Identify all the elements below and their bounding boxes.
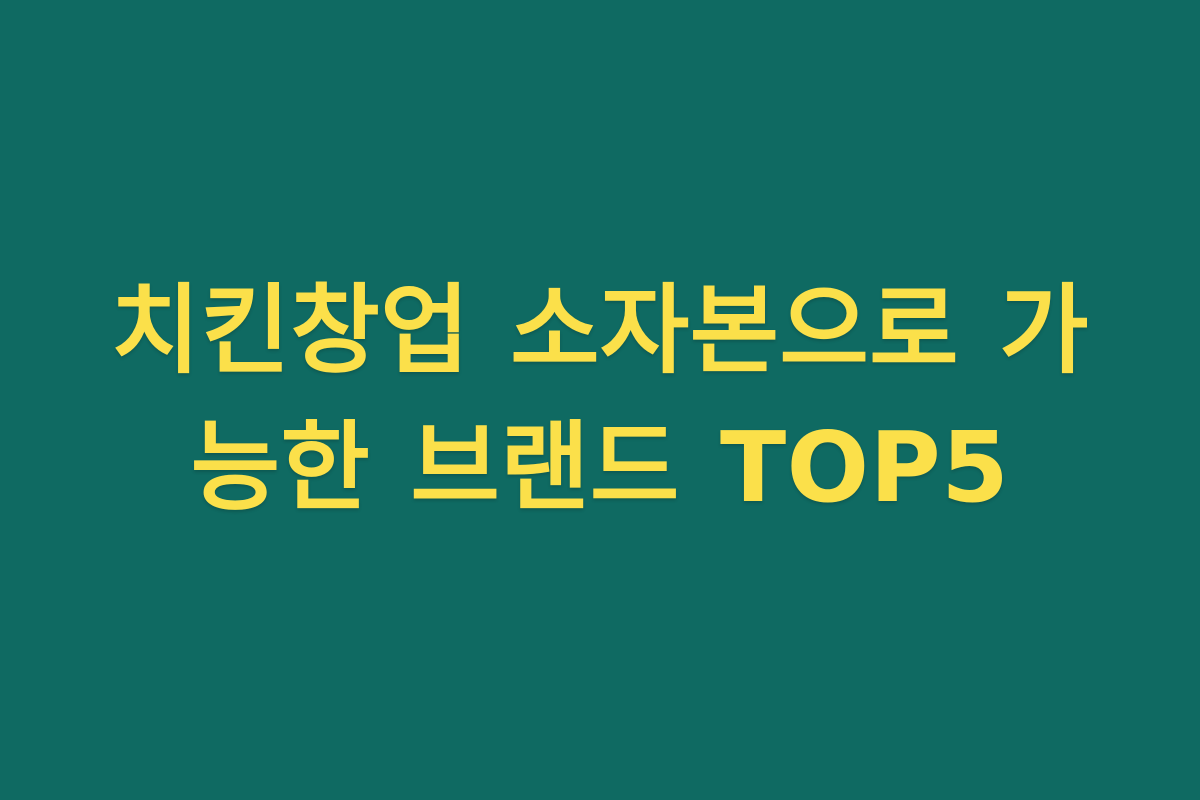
banner-background: 치킨창업 소자본으로 가 능한 브랜드 TOP5 [0, 0, 1200, 800]
headline-line-2: 능한 브랜드 TOP5 [70, 398, 1130, 539]
headline-text: 치킨창업 소자본으로 가 능한 브랜드 TOP5 [70, 261, 1130, 538]
headline-line-1: 치킨창업 소자본으로 가 [70, 261, 1130, 402]
